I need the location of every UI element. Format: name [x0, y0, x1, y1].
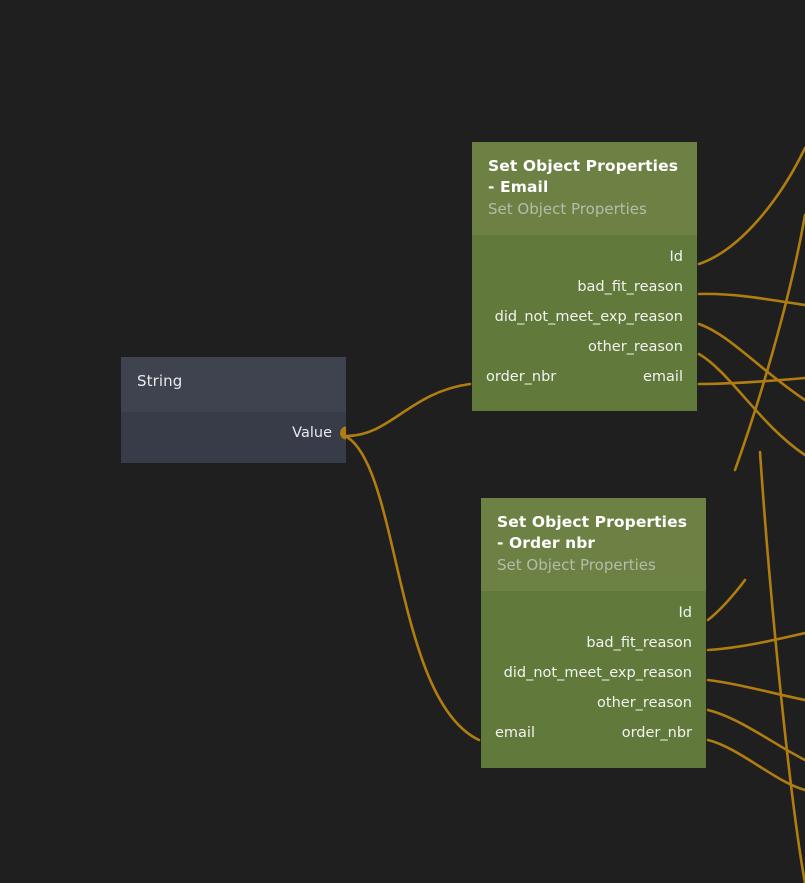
node-header: Set Object Properties - Email Set Object…	[472, 142, 697, 235]
connection-wire[interactable]	[699, 354, 805, 455]
node-subtitle: Set Object Properties	[497, 555, 690, 576]
port-label-order-nbr: order_nbr	[622, 718, 692, 748]
connection-wire[interactable]	[735, 215, 805, 470]
port-row-id[interactable]: Id	[481, 598, 706, 628]
connection-wire[interactable]	[708, 580, 745, 620]
port-label-id: Id	[679, 598, 692, 628]
port-row-other-reason[interactable]: other_reason	[472, 332, 697, 362]
connection-wire[interactable]	[347, 437, 479, 740]
port-label-email: email	[643, 362, 683, 392]
port-label-did-not-meet-exp-reason: did_not_meet_exp_reason	[495, 302, 683, 332]
node-title: Set Object Properties - Email	[488, 156, 681, 198]
port-row-did-not-meet-exp-reason[interactable]: did_not_meet_exp_reason	[481, 658, 706, 688]
connection-wire[interactable]	[699, 148, 805, 264]
port-label-other-reason: other_reason	[597, 688, 692, 718]
node-header: Set Object Properties - Order nbr Set Ob…	[481, 498, 706, 591]
connection-wire[interactable]	[708, 740, 805, 790]
connection-wire[interactable]	[699, 378, 805, 384]
port-label-did-not-meet-exp-reason: did_not_meet_exp_reason	[504, 658, 692, 688]
port-row-bad-fit-reason[interactable]: bad_fit_reason	[472, 272, 697, 302]
port-label-other-reason: other_reason	[588, 332, 683, 362]
port-label-id: Id	[670, 242, 683, 272]
connection-wire[interactable]	[699, 294, 805, 305]
port-label-email-input: email	[495, 718, 535, 748]
port-row-bad-fit-reason[interactable]: bad_fit_reason	[481, 628, 706, 658]
port-label-value: Value	[292, 418, 332, 448]
port-row-email[interactable]: email order_nbr	[472, 362, 697, 392]
port-row-id[interactable]: Id	[472, 242, 697, 272]
node-set-object-properties-email[interactable]: Set Object Properties - Email Set Object…	[472, 142, 697, 411]
connection-wire[interactable]	[347, 384, 470, 436]
node-title: String	[137, 371, 330, 392]
node-body: Value	[121, 412, 346, 463]
port-row-other-reason[interactable]: other_reason	[481, 688, 706, 718]
node-subtitle: Set Object Properties	[488, 199, 681, 220]
node-string[interactable]: String Value	[121, 357, 346, 463]
connection-wire[interactable]	[699, 324, 805, 400]
connection-wire[interactable]	[760, 452, 805, 883]
node-body: Id bad_fit_reason did_not_meet_exp_reaso…	[481, 591, 706, 768]
node-header: String	[121, 357, 346, 412]
port-connector-value-dot-icon[interactable]	[340, 427, 346, 440]
port-row-value[interactable]: Value	[121, 418, 346, 448]
connection-wire[interactable]	[708, 680, 805, 700]
port-label-bad-fit-reason: bad_fit_reason	[577, 272, 683, 302]
node-set-object-properties-order-nbr[interactable]: Set Object Properties - Order nbr Set Ob…	[481, 498, 706, 768]
node-title: Set Object Properties - Order nbr	[497, 512, 690, 554]
node-graph-canvas[interactable]: String Value Set Object Properties - Ema…	[0, 0, 805, 883]
connection-wire[interactable]	[708, 633, 805, 650]
connection-wire[interactable]	[708, 710, 805, 760]
node-body: Id bad_fit_reason did_not_meet_exp_reaso…	[472, 235, 697, 411]
port-label-bad-fit-reason: bad_fit_reason	[586, 628, 692, 658]
port-row-order-nbr[interactable]: order_nbr email	[481, 718, 706, 748]
port-label-order-nbr-input: order_nbr	[486, 362, 556, 392]
port-row-did-not-meet-exp-reason[interactable]: did_not_meet_exp_reason	[472, 302, 697, 332]
